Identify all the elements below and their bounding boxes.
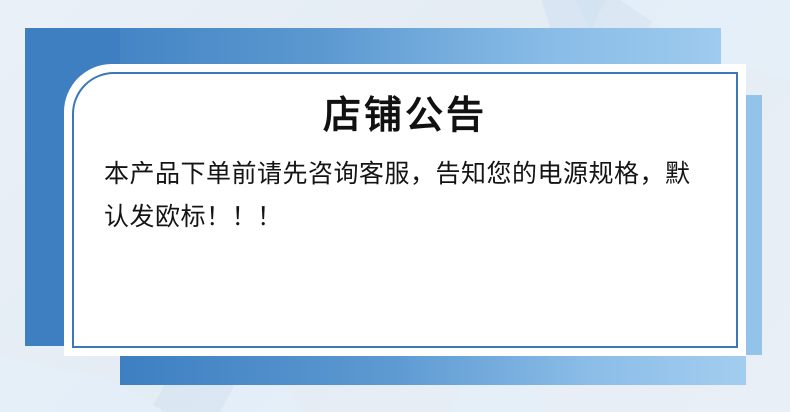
announcement-card: 店铺公告 本产品下单前请先咨询客服，告知您的电源规格，默认发欧标！！！ [64,64,746,356]
decorative-bar-top [25,28,721,69]
announcement-title: 店铺公告 [88,94,722,138]
announcement-card-content: 店铺公告 本产品下单前请先咨询客服，告知您的电源规格，默认发欧标！！！ [64,64,746,356]
announcement-banner: 店铺公告 本产品下单前请先咨询客服，告知您的电源规格，默认发欧标！！！ [0,0,790,412]
announcement-body-text: 本产品下单前请先咨询客服，告知您的电源规格，默认发欧标！！！ [88,152,722,238]
decorative-bar-bottom [120,351,746,385]
